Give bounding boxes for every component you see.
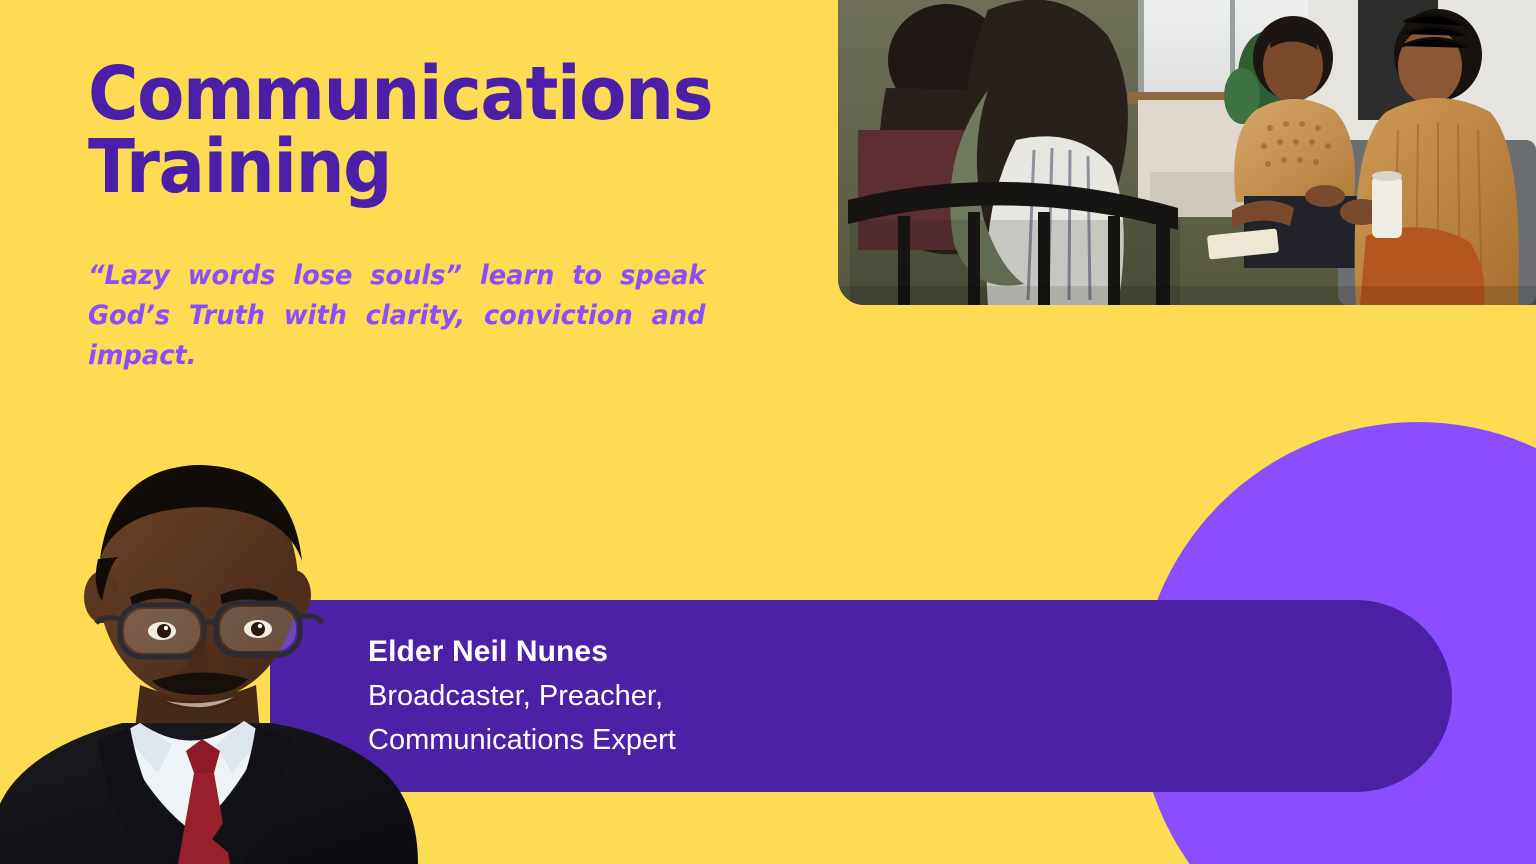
speaker-portrait-illustration bbox=[0, 455, 420, 864]
group-discussion-photo bbox=[838, 0, 1536, 305]
speaker-role-line-2: Communications Expert bbox=[368, 718, 1068, 762]
title-line-2: Training bbox=[88, 124, 391, 210]
presentation-slide: CommunicationsTraining “Lazy words lose … bbox=[0, 0, 1536, 864]
speaker-portrait-photo bbox=[0, 455, 420, 864]
speaker-info: Elder Neil Nunes Broadcaster, Preacher, … bbox=[368, 630, 1068, 762]
speaker-role-line-1: Broadcaster, Preacher, bbox=[368, 674, 1068, 718]
headline-block: CommunicationsTraining bbox=[88, 58, 748, 203]
subtitle-text: “Lazy words lose souls” learn to speak G… bbox=[88, 256, 706, 416]
speaker-name: Elder Neil Nunes bbox=[368, 630, 1068, 674]
group-discussion-illustration bbox=[838, 0, 1536, 305]
page-title: CommunicationsTraining bbox=[88, 58, 702, 203]
